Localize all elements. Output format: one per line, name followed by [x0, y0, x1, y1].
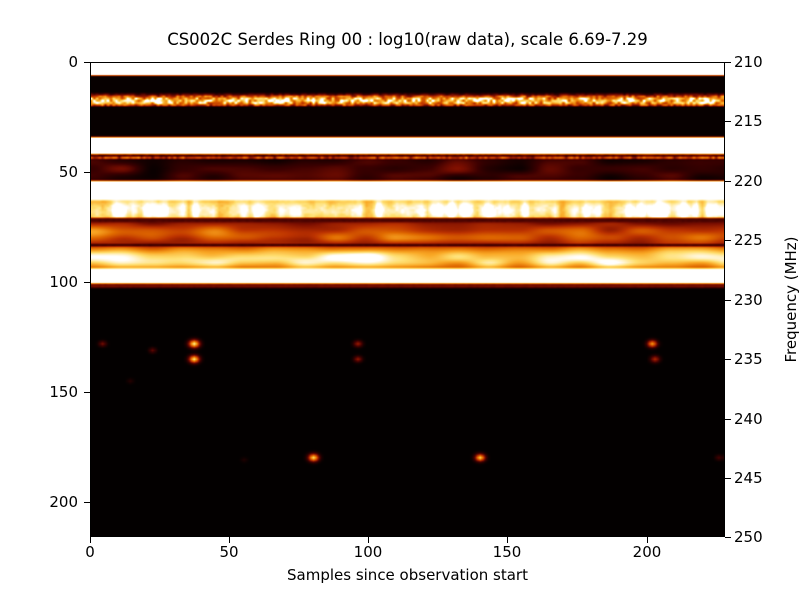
tick-y-right-210: [725, 62, 731, 63]
ticklabel-beamlet-0: 0: [68, 55, 78, 70]
ticklabel-beamlet-200: 200: [49, 495, 78, 510]
spectrogram-image: [91, 63, 724, 536]
tick-y-right-215: [725, 121, 731, 122]
ticklabel-freq-240: 240: [734, 412, 763, 427]
heatmap-plot-area[interactable]: [90, 62, 725, 537]
y-axis-label-frequency: Frequency (MHz): [782, 62, 800, 537]
tick-y-right-235: [725, 359, 731, 360]
tick-y-left-150: [84, 392, 90, 393]
tick-y-right-230: [725, 300, 731, 301]
tick-y-right-225: [725, 240, 731, 241]
ticklabel-freq-220: 220: [734, 174, 763, 189]
ticklabel-freq-230: 230: [734, 293, 763, 308]
tick-y-left-50: [84, 172, 90, 173]
ticklabel-freq-210: 210: [734, 55, 763, 70]
ticklabel-sample-50: 50: [199, 545, 259, 560]
tick-y-left-200: [84, 502, 90, 503]
tick-y-right-240: [725, 419, 731, 420]
ticklabel-beamlet-50: 50: [59, 165, 78, 180]
ticklabel-freq-245: 245: [734, 471, 763, 486]
page-title: CS002C Serdes Ring 00 : log10(raw data),…: [90, 30, 725, 50]
tick-y-left-0: [84, 62, 90, 63]
tick-y-left-100: [84, 282, 90, 283]
ticklabel-beamlet-100: 100: [49, 275, 78, 290]
figure-canvas: CS002C Serdes Ring 00 : log10(raw data),…: [0, 0, 800, 600]
tick-y-right-250: [725, 537, 731, 538]
ticklabel-sample-0: 0: [60, 545, 120, 560]
tick-y-right-220: [725, 181, 731, 182]
ticklabel-beamlet-150: 150: [49, 385, 78, 400]
tick-y-right-245: [725, 478, 731, 479]
ticklabel-sample-150: 150: [477, 545, 537, 560]
ticklabel-freq-215: 215: [734, 114, 763, 129]
ticklabel-freq-250: 250: [734, 530, 763, 545]
ticklabel-freq-225: 225: [734, 233, 763, 248]
ticklabel-freq-235: 235: [734, 352, 763, 367]
ticklabel-sample-100: 100: [338, 545, 398, 560]
x-axis-label: Samples since observation start: [90, 566, 725, 584]
ticklabel-sample-200: 200: [617, 545, 677, 560]
